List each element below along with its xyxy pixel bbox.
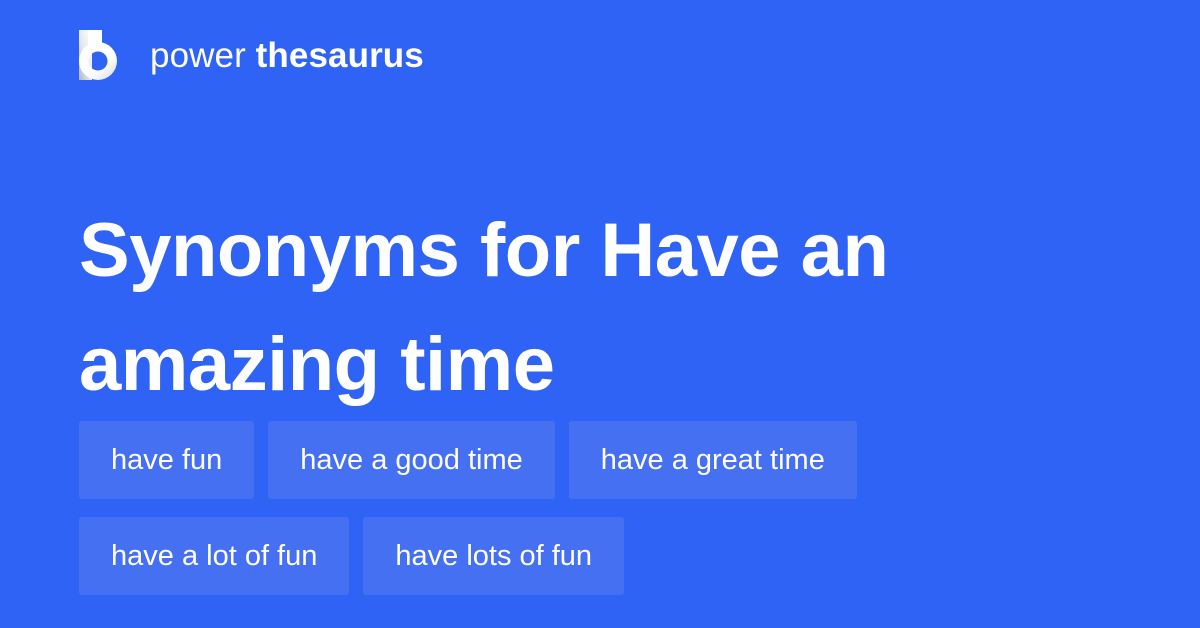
- brand-lockup[interactable]: power thesaurus: [79, 27, 424, 83]
- synonym-chip-row: have fun have a good time have a great t…: [79, 421, 1119, 499]
- share-card: power thesaurus Synonyms for Have an ama…: [0, 0, 1200, 628]
- brand-name-regular: power: [150, 36, 256, 75]
- synonym-chip[interactable]: have a good time: [268, 421, 554, 499]
- page-title: Synonyms for Have an amazing time: [79, 194, 1079, 422]
- synonym-chip-list: have fun have a good time have a great t…: [79, 421, 1119, 595]
- synonym-chip[interactable]: have a lot of fun: [79, 517, 349, 595]
- synonym-chip-row: have a lot of fun have lots of fun: [79, 517, 1119, 595]
- synonym-chip[interactable]: have lots of fun: [363, 517, 624, 595]
- brand-name: power thesaurus: [150, 38, 424, 73]
- synonym-chip[interactable]: have a great time: [569, 421, 857, 499]
- page-title-line-2: amazing time: [79, 308, 1079, 422]
- page-title-line-1: Synonyms for Have an: [79, 194, 1079, 308]
- synonym-chip[interactable]: have fun: [79, 421, 254, 499]
- power-thesaurus-b-logo-icon: [79, 30, 123, 80]
- brand-name-bold: thesaurus: [256, 36, 424, 75]
